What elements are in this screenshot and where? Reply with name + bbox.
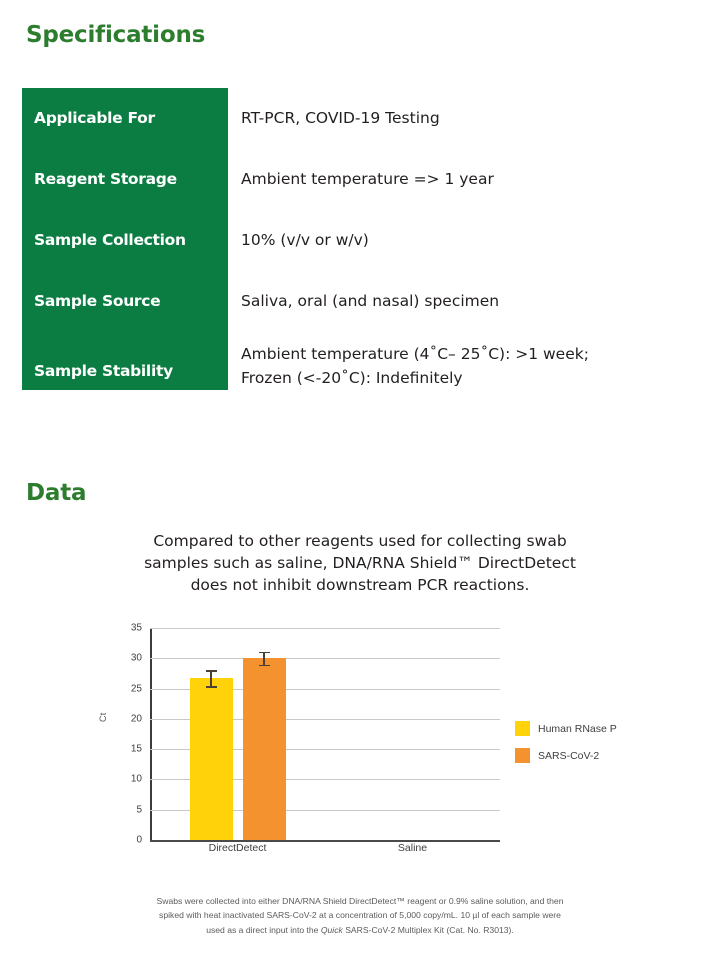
table-row: Reagent Storage Ambient temperature => 1… <box>22 149 698 210</box>
legend-swatch-icon <box>515 748 530 763</box>
table-row: Sample Source Saliva, oral (and nasal) s… <box>22 271 698 332</box>
gridline <box>150 628 500 629</box>
x-axis-category-label: DirectDetect <box>209 842 267 854</box>
y-axis-tick-label: 15 <box>131 744 142 755</box>
error-bar-cap-top <box>259 652 270 654</box>
chart-title-line-2: samples such as saline, DNA/RNA Shield™ … <box>100 552 620 574</box>
spec-row-label: Sample Source <box>22 271 228 332</box>
spec-row-value: RT-PCR, COVID-19 Testing <box>228 88 698 149</box>
chart-title-line-3: does not inhibit downstream PCR reaction… <box>100 574 620 596</box>
spec-row-value: Ambient temperature => 1 year <box>228 149 698 210</box>
x-axis-category-label: Saline <box>398 842 427 854</box>
x-axis-line <box>150 840 500 842</box>
table-row: Sample Collection 10% (v/v or w/v) <box>22 210 698 271</box>
chart-block: Compared to other reagents used for coll… <box>0 530 720 596</box>
y-axis-tick-label: 30 <box>131 653 142 664</box>
legend-item: Human RNase P <box>515 721 617 736</box>
y-axis-tick-label: 5 <box>136 804 142 815</box>
spec-row-value-line-2: Frozen (<-20˚C): Indefinitely <box>241 366 698 390</box>
error-bar <box>263 652 265 665</box>
chart-legend: Human RNase PSARS-CoV-2 <box>515 721 617 775</box>
error-bar-cap-bottom <box>206 686 217 688</box>
spec-row-label: Sample Stability <box>22 332 228 393</box>
chart-caption-line-3: used as a direct input into the Quick SA… <box>90 923 630 937</box>
y-axis-tick-label: 35 <box>131 623 142 634</box>
y-axis-line <box>150 628 152 840</box>
table-row: Applicable For RT-PCR, COVID-19 Testing <box>22 88 698 149</box>
chart-title-line-1: Compared to other reagents used for coll… <box>100 530 620 552</box>
error-bar <box>210 670 212 686</box>
spec-row-value: 10% (v/v or w/v) <box>228 210 698 271</box>
legend-label: SARS-CoV-2 <box>538 750 599 762</box>
gridline <box>150 658 500 659</box>
spec-row-label: Reagent Storage <box>22 149 228 210</box>
spec-row-value: Saliva, oral (and nasal) specimen <box>228 271 698 332</box>
y-axis-tick-label: 25 <box>131 683 142 694</box>
table-row: Sample Stability Ambient temperature (4˚… <box>22 332 698 393</box>
spec-row-value-line-1: Ambient temperature (4˚C– 25˚C): >1 week… <box>241 342 698 366</box>
y-axis-tick-label: 20 <box>131 713 142 724</box>
bar-directdetect-2 <box>243 658 286 840</box>
bar-directdetect-1 <box>190 678 233 840</box>
error-bar-cap-top <box>206 670 217 672</box>
y-axis-tick-label: 0 <box>136 835 142 846</box>
chart-caption: Swabs were collected into either DNA/RNA… <box>90 894 630 937</box>
spec-row-label: Applicable For <box>22 88 228 149</box>
legend-item: SARS-CoV-2 <box>515 748 617 763</box>
chart-plot-area: 05101520253035DirectDetectSaline <box>150 628 500 840</box>
specifications-table: Applicable For RT-PCR, COVID-19 Testing … <box>22 88 698 393</box>
y-axis-title: Ct <box>98 713 108 722</box>
error-bar-cap-bottom <box>259 665 270 667</box>
spec-row-label: Sample Collection <box>22 210 228 271</box>
data-heading: Data <box>26 480 86 506</box>
legend-swatch-icon <box>515 721 530 736</box>
legend-label: Human RNase P <box>538 723 617 735</box>
y-axis-tick-label: 10 <box>131 774 142 785</box>
specifications-heading: Specifications <box>26 22 205 48</box>
chart-title: Compared to other reagents used for coll… <box>100 530 620 596</box>
spec-row-value: Ambient temperature (4˚C– 25˚C): >1 week… <box>228 332 698 393</box>
chart-caption-line-2: spiked with heat inactivated SARS-CoV-2 … <box>90 908 630 922</box>
chart-caption-line-1: Swabs were collected into either DNA/RNA… <box>90 894 630 908</box>
